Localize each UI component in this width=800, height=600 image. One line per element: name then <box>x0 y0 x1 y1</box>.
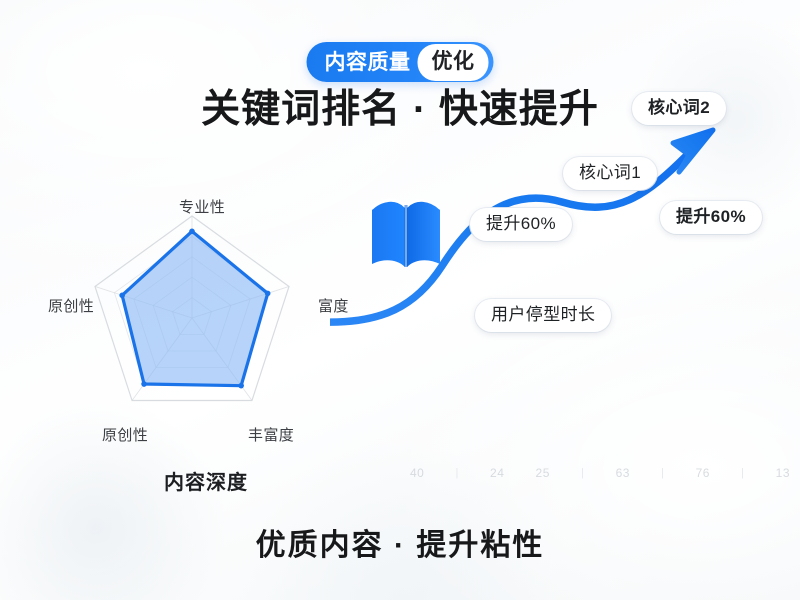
tick-value: 13 <box>776 466 790 480</box>
radar-label-top: 专业性 <box>179 196 225 217</box>
callout-dwell-time: 用户停型时长 <box>475 299 611 332</box>
radar-chart-svg <box>40 190 380 460</box>
faint-axis-ticks: 40|2425|63|76|13 <box>410 462 790 484</box>
radar-vertex <box>238 383 244 389</box>
radar-vertex <box>119 293 125 299</box>
poster-canvas: 内容质量 优化 关键词排名 · 快速提升 专业性 富度 丰富度 原创性 原创性 … <box>0 0 800 600</box>
tick-value: 24 <box>490 466 504 480</box>
tick-value: 40 <box>410 466 424 480</box>
radar-label-bottom-left: 原创性 <box>102 424 148 445</box>
badge-main-label: 内容质量 <box>325 52 418 73</box>
callout-uplift-right: 提升60% <box>660 201 762 234</box>
radar-label-bottom-right: 丰富度 <box>248 424 294 445</box>
radar-chart: 专业性 富度 丰富度 原创性 原创性 <box>40 190 380 460</box>
tick-value: 63 <box>616 466 630 480</box>
radar-label-left: 原创性 <box>48 295 94 316</box>
radar-vertex <box>189 229 195 235</box>
callout-keyword-1: 核心词1 <box>563 157 657 190</box>
callout-uplift-left: 提升60% <box>470 208 572 241</box>
tick-value: 76 <box>696 466 710 480</box>
radar-label-right: 富度 <box>318 295 349 316</box>
quality-badge: 内容质量 优化 <box>307 42 494 82</box>
tick-separator: | <box>741 467 744 479</box>
content-depth-caption: 内容深度 <box>164 466 248 495</box>
radar-vertex <box>265 291 271 297</box>
open-book-icon <box>368 188 444 274</box>
callout-keyword-2: 核心词2 <box>632 92 726 125</box>
tick-separator: | <box>661 467 664 479</box>
footer-headline: 优质内容 · 提升粘性 <box>0 520 800 564</box>
badge-chip-label: 优化 <box>418 44 489 81</box>
radar-vertex <box>141 381 147 387</box>
tick-value: 25 <box>536 466 550 480</box>
tick-separator: | <box>581 467 584 479</box>
tick-separator: | <box>456 467 459 479</box>
